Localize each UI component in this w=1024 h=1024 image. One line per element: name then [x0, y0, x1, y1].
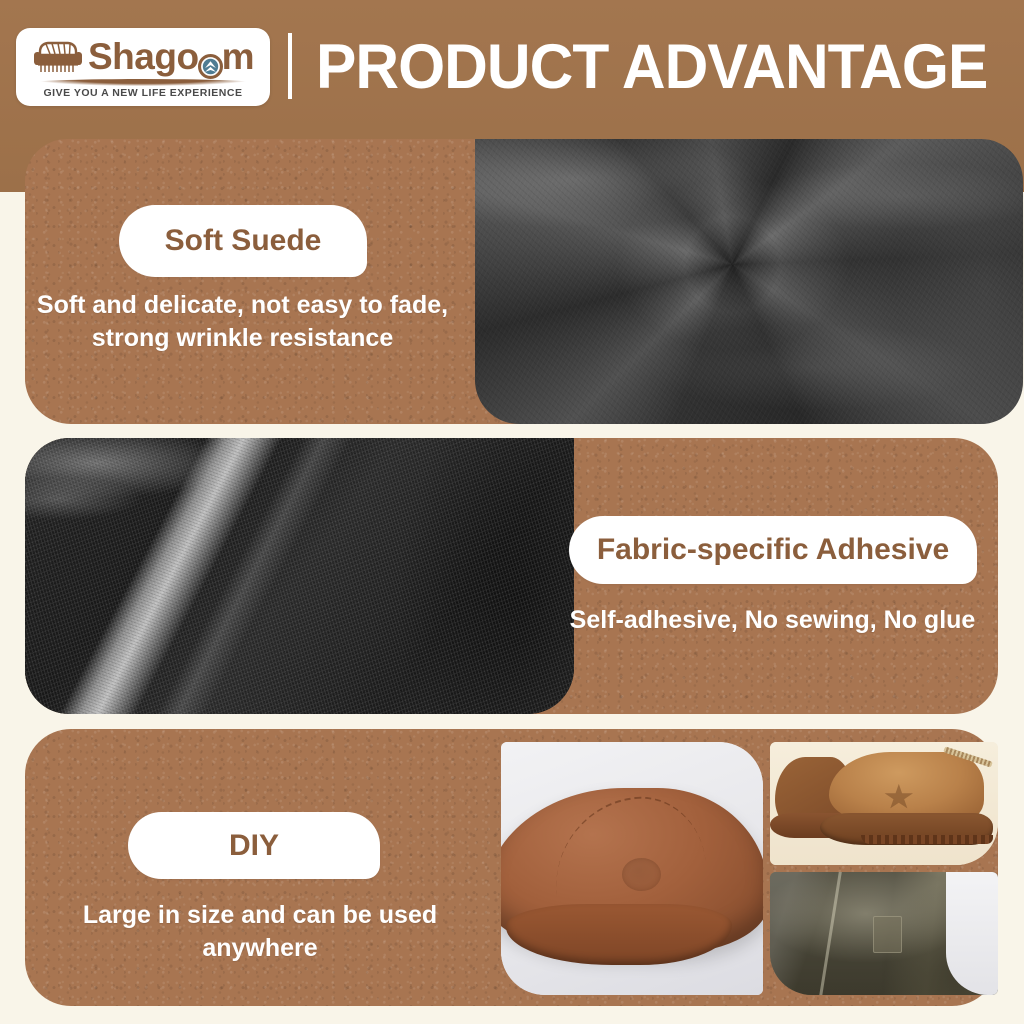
feature-badge-diy: DIY [128, 812, 380, 879]
logo-wordmark-part3: m [222, 38, 254, 75]
product-advantage-infographic: Shag o m GIVE YOU A NEW LIFE EXPERIENCE [0, 0, 1024, 1024]
logo-wordmark: Shag o m [88, 38, 254, 75]
feature-caption-soft-suede: Soft and delicate, not easy to fade, str… [30, 289, 455, 355]
feature-card-soft-suede [25, 139, 998, 424]
sofa-icon [32, 38, 84, 78]
feature-badge-fabric-specific-adhesive: Fabric-specific Adhesive [569, 516, 977, 584]
logo-row: Shag o m [32, 38, 254, 78]
logo-ring-icon [198, 48, 223, 73]
page-title: PRODUCT ADVANTAGE [316, 24, 987, 110]
feature-badge-soft-suede: Soft Suede [119, 205, 367, 277]
black-fleece-adhesive-closeup-photo [25, 438, 574, 714]
logo-tagline: GIVE YOU A NEW LIFE EXPERIENCE [44, 87, 243, 99]
logo-underline-swoosh [35, 79, 251, 86]
olive-suede-jacket-sleeve-photo [770, 872, 998, 995]
brown-suede-flat-cap-photo [501, 742, 763, 995]
logo-wordmark-part2: o [176, 38, 198, 75]
title-divider [288, 33, 292, 99]
logo-wordmark-part1: Shag [88, 38, 176, 75]
black-suede-fabric-swirl-photo [475, 139, 1023, 424]
tan-suede-slipper-boot-photo [770, 742, 998, 865]
feature-caption-diy: Large in size and can be used anywhere [26, 899, 494, 965]
feature-caption-fabric-specific-adhesive: Self-adhesive, No sewing, No glue [560, 604, 985, 637]
brand-logo-badge: Shag o m GIVE YOU A NEW LIFE EXPERIENCE [16, 28, 270, 106]
